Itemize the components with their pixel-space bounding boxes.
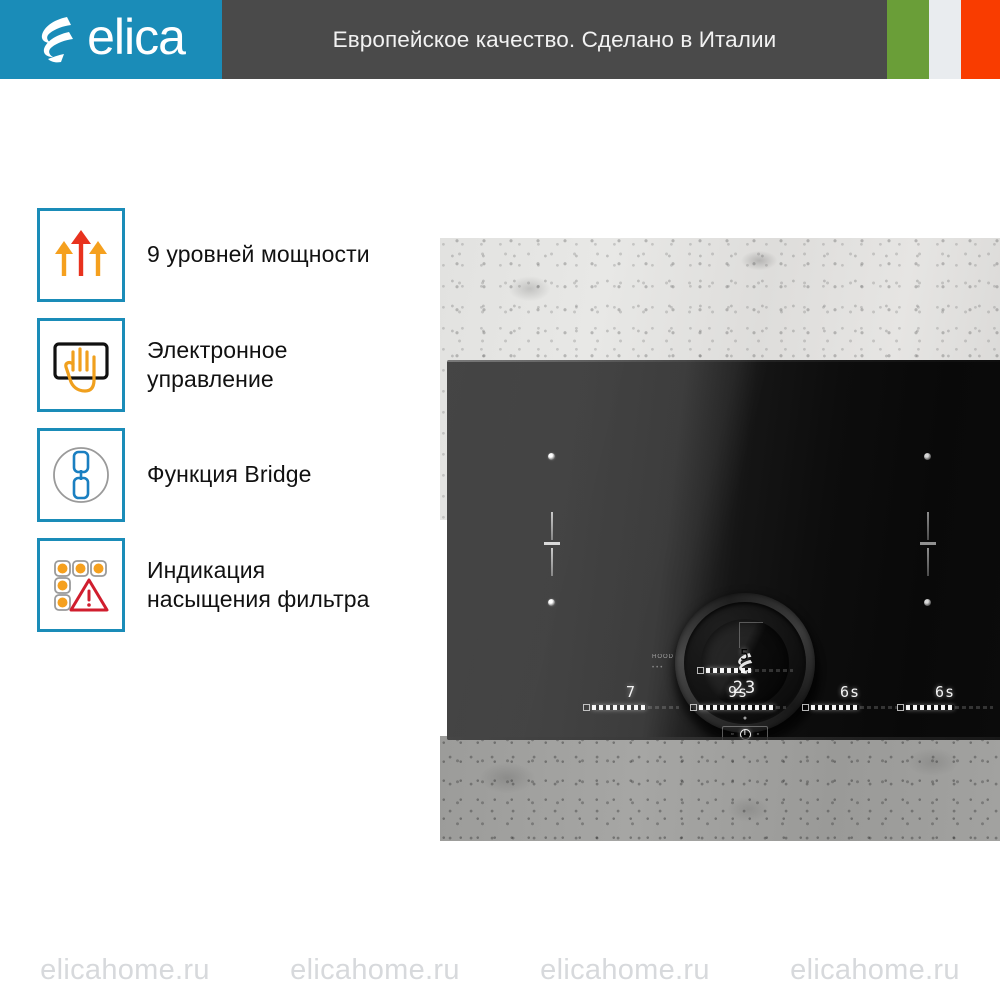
- watermark-3: elicahome.ru: [540, 954, 710, 987]
- flag-stripe-red: [961, 0, 1000, 79]
- touch-control-hand-icon: [37, 318, 125, 412]
- timer-dot-row: ●: [699, 715, 791, 722]
- zone-4-control[interactable]: 6s: [897, 685, 993, 710]
- zone-3-level-value: 6: [840, 683, 850, 701]
- zone-4-level-suffix: s: [945, 683, 955, 701]
- zone-4-level-value: 6: [935, 683, 945, 701]
- zone-1-slider[interactable]: [583, 705, 679, 710]
- brand-wordmark: elica: [87, 12, 185, 62]
- feature-item-bridge: Функция Bridge: [0, 420, 440, 530]
- flag-stripe-white: [929, 0, 961, 79]
- feature-label-filter-saturation: Индикация насыщения фильтра: [147, 556, 370, 615]
- zone-1-control[interactable]: 7: [583, 685, 679, 710]
- bridge-chain-link-icon: [37, 428, 125, 522]
- hood-speed-dots: •••: [652, 665, 664, 671]
- concrete-wall-lower: [440, 736, 1000, 841]
- timer-display-value: 23: [699, 678, 791, 698]
- header-tagline: Европейское качество. Сделано в Италии: [222, 0, 887, 79]
- cooktop-bottom-edge: [447, 737, 1000, 740]
- feature-list: 9 уровней мощности Электронное управлени…: [0, 200, 440, 640]
- hood-speed-control[interactable]: HOOD ••• 5: [690, 648, 800, 673]
- hood-speed-slider[interactable]: [697, 668, 793, 673]
- elica-swirl-logo-icon: [37, 15, 79, 65]
- watermark-1: elicahome.ru: [40, 954, 210, 987]
- feature-item-filter-saturation: Индикация насыщения фильтра: [0, 530, 440, 640]
- flag-stripe-green: [887, 0, 929, 79]
- feature-item-touch-control: Электронное управление: [0, 310, 440, 420]
- feature-label-bridge: Функция Bridge: [147, 460, 312, 489]
- page-header: elica Европейское качество. Сделано в Ит…: [0, 0, 1000, 79]
- watermark-row: elicahome.ru elicahome.ru elicahome.ru e…: [0, 940, 1000, 1000]
- product-photo: HOOD ••• 5 7: [440, 238, 1000, 841]
- feature-label-power-levels: 9 уровней мощности: [147, 240, 370, 269]
- italian-flag: [887, 0, 1000, 79]
- timer-and-power-control[interactable]: 23 - ● ▫ ▫: [699, 678, 791, 740]
- zone-4-slider[interactable]: [897, 705, 993, 710]
- zone-3-slider[interactable]: [802, 705, 898, 710]
- feature-label-touch-control: Электронное управление: [147, 336, 288, 395]
- timer-minus-icon[interactable]: -: [744, 703, 746, 710]
- zone-3-level-suffix: s: [850, 683, 860, 701]
- watermark-4: elicahome.ru: [790, 954, 960, 987]
- hood-speed-value: 5: [690, 648, 800, 663]
- hood-speed-label: HOOD: [652, 654, 674, 660]
- cooktop-control-panel[interactable]: HOOD ••• 5 7: [447, 360, 1000, 740]
- watermark-2: elicahome.ru: [290, 954, 460, 987]
- zone-3-control[interactable]: 6s: [802, 685, 898, 710]
- timer-dot-icon: ●: [743, 715, 747, 722]
- filter-saturation-warning-icon: [37, 538, 125, 632]
- zone-1-level-value: 7: [626, 683, 636, 701]
- brand-logo-block[interactable]: elica: [0, 0, 222, 79]
- hood-control-stem: [739, 622, 763, 648]
- feature-item-power-levels: 9 уровней мощности: [0, 200, 440, 310]
- induction-cooktop-glass: HOOD ••• 5 7: [447, 360, 1000, 740]
- power-levels-arrows-icon: [37, 208, 125, 302]
- timer-minus-row[interactable]: -: [699, 703, 791, 710]
